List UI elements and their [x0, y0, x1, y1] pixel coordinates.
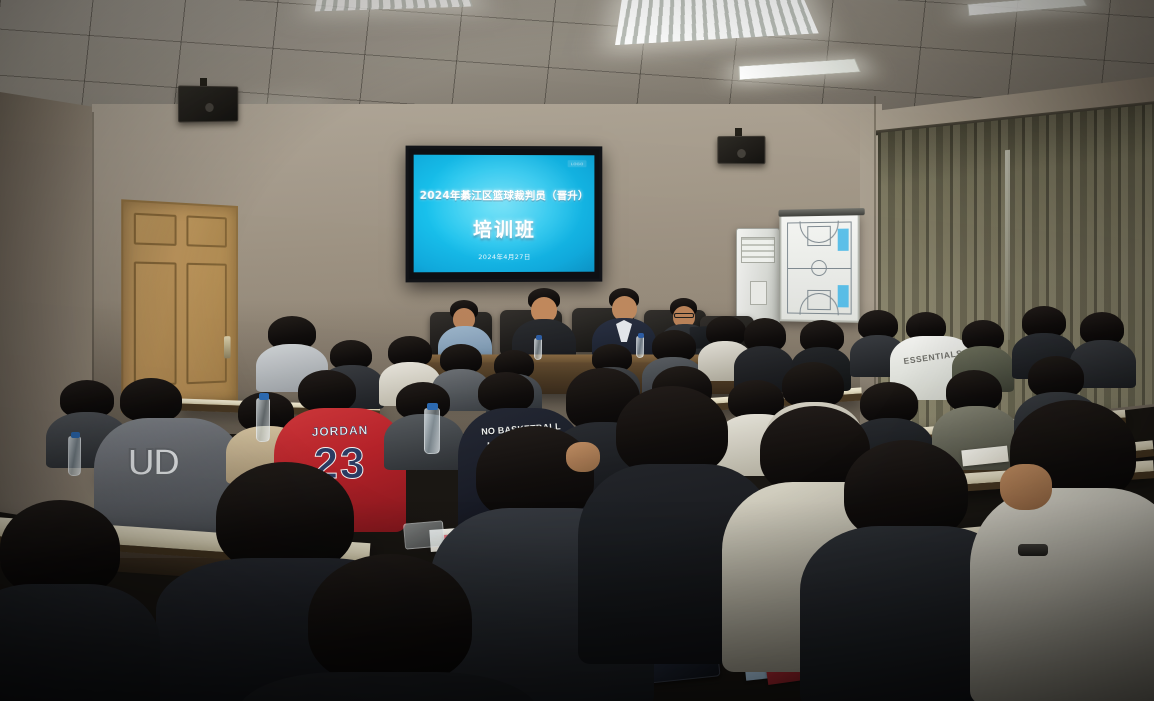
ac-vent-grille	[741, 237, 775, 263]
slide-title: 2024年綦江区篮球裁判员（晋升）	[414, 188, 595, 203]
hand	[1000, 464, 1052, 510]
court-diagram	[787, 221, 852, 314]
bottle-cap	[427, 403, 438, 410]
hair	[478, 372, 534, 412]
water-bottle[interactable]	[534, 338, 542, 360]
court-arc-bottom	[800, 293, 839, 316]
hair	[216, 462, 354, 572]
court-marker-blue	[838, 229, 849, 251]
tactics-board[interactable]	[779, 213, 859, 323]
hair	[0, 500, 120, 596]
wall-speaker-left	[178, 85, 238, 122]
hair	[298, 370, 356, 412]
door-panel-upper-left	[134, 213, 177, 246]
bottle-cap	[259, 393, 269, 400]
torso	[970, 488, 1154, 701]
hair	[120, 378, 182, 422]
torso	[0, 584, 160, 701]
court-marker-blue	[838, 285, 849, 307]
bottle-cap	[536, 335, 542, 340]
eyeglasses-icon	[674, 313, 694, 318]
projector-screen-content: LOGO 2024年綦江区篮球裁判员（晋升） 培训班 2024年4月27日	[414, 155, 595, 273]
slide-date: 2024年4月27日	[414, 251, 595, 261]
hair	[476, 426, 594, 520]
wristwatch	[1018, 544, 1048, 556]
curtain-opening	[1005, 150, 1010, 341]
water-bottle[interactable]	[424, 408, 440, 454]
hair	[616, 386, 728, 476]
ud-logo-text: UD	[118, 444, 188, 482]
ac-control-panel[interactable]	[750, 281, 767, 305]
court-arc-top	[800, 221, 839, 244]
bottle-cap	[638, 333, 644, 338]
projector-screen[interactable]: LOGO 2024年綦江区篮球裁判员（晋升） 培训班 2024年4月27日	[406, 146, 603, 283]
classroom-photo: LOGO 2024年綦江区篮球裁判员（晋升） 培训班 2024年4月27日	[0, 0, 1154, 701]
slide-subtitle: 培训班	[414, 215, 595, 242]
slide-logo: LOGO	[568, 160, 587, 167]
door-panel-upper-right	[186, 215, 226, 247]
bottle-cap	[71, 432, 80, 438]
door-panel-lower-right	[186, 263, 226, 385]
door-panel-lower-left	[134, 261, 177, 386]
hair	[844, 440, 968, 540]
board-top-rail	[779, 208, 865, 217]
wall-speaker-right	[717, 136, 765, 164]
court-center-circle	[811, 260, 827, 276]
water-bottle[interactable]	[68, 436, 81, 476]
door-handle[interactable]	[224, 336, 231, 358]
water-bottle[interactable]	[256, 398, 270, 442]
water-bottle[interactable]	[636, 336, 644, 358]
hair	[308, 554, 472, 684]
hand	[566, 442, 600, 472]
